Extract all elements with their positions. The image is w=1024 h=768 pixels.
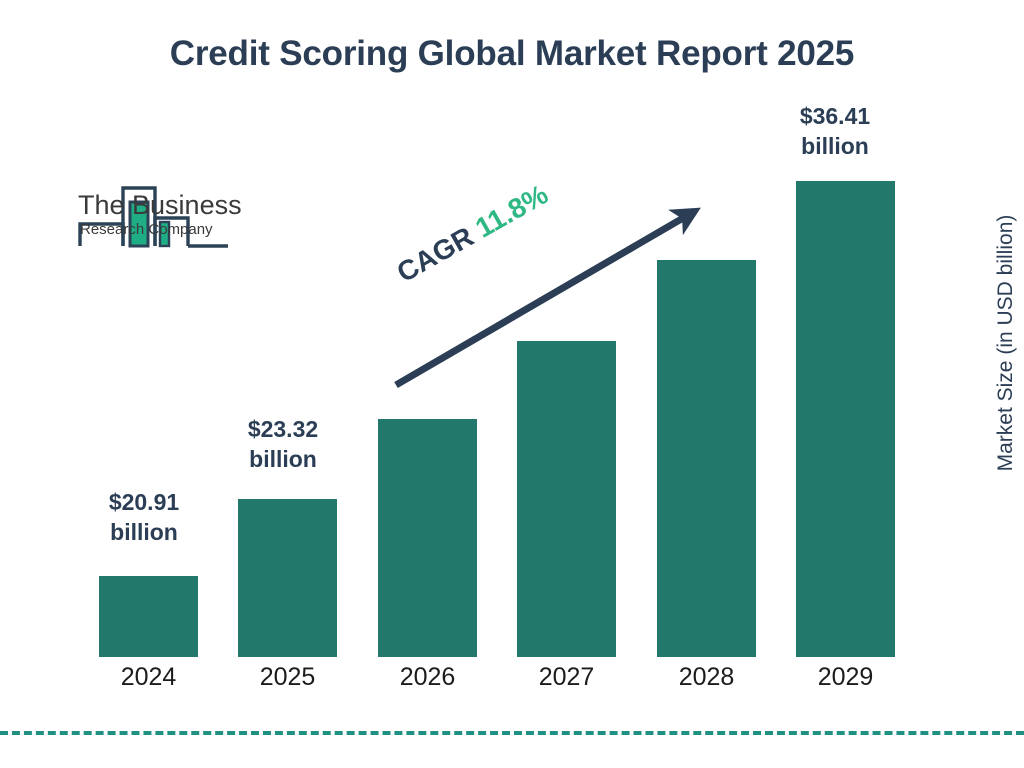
chart-canvas: Credit Scoring Global Market Report 2025… — [0, 0, 1024, 768]
x-tick-2024: 2024 — [99, 663, 198, 692]
value-label-2024: $20.91 billion — [84, 487, 204, 548]
x-tick-2029: 2029 — [796, 663, 895, 692]
bottom-divider — [0, 731, 1024, 735]
value-label-2029: $36.41 billion — [775, 101, 895, 162]
x-tick-2028: 2028 — [657, 663, 756, 692]
bar-2024 — [99, 576, 198, 657]
bar-2025 — [238, 499, 337, 657]
x-tick-2025: 2025 — [238, 663, 337, 692]
y-axis-title: Market Size (in USD billion) — [994, 193, 1024, 493]
value-label-2025: $23.32 billion — [223, 414, 343, 475]
x-tick-2027: 2027 — [517, 663, 616, 692]
x-tick-2026: 2026 — [378, 663, 477, 692]
bar-2029 — [796, 181, 895, 657]
bar-2026 — [378, 419, 477, 657]
cagr-trend-arrow-icon — [380, 190, 720, 400]
